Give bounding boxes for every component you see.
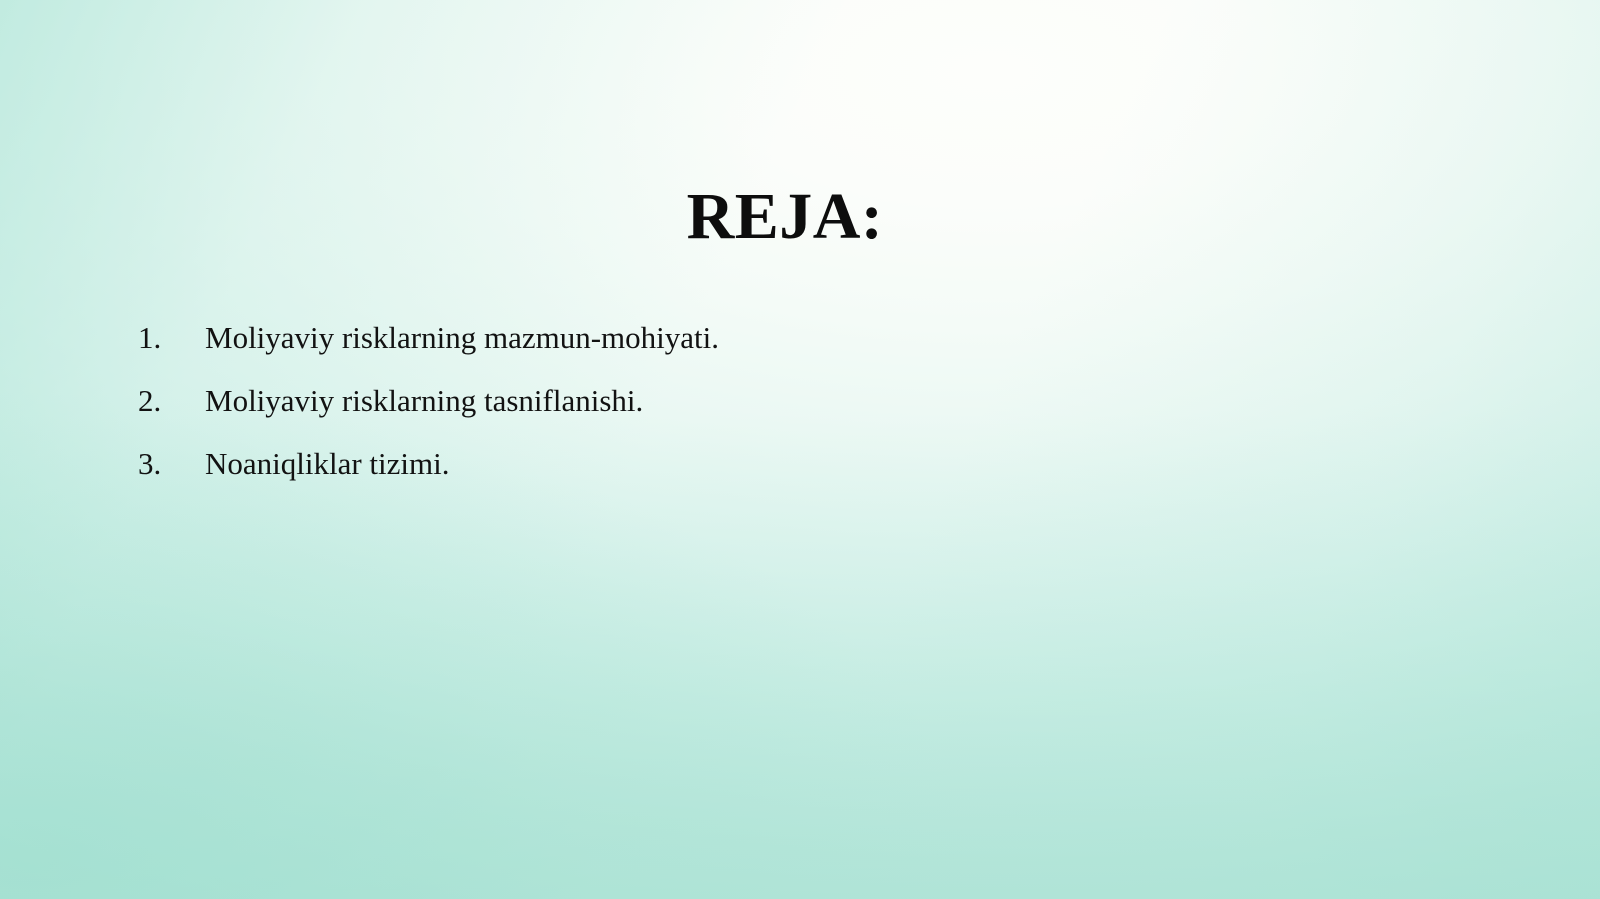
presentation-slide: REJA: 1. Moliyaviy risklarning mazmun-mo…	[0, 0, 1600, 899]
page-title: REJA:	[0, 184, 1570, 250]
list-item-label: Moliyaviy risklarning tasniflanishi.	[205, 381, 643, 421]
list-item-label: Moliyaviy risklarning mazmun-mohiyati.	[205, 318, 719, 358]
list-item: 1. Moliyaviy risklarning mazmun-mohiyati…	[138, 318, 719, 381]
list-item: 2. Moliyaviy risklarning tasniflanishi.	[138, 381, 719, 444]
list-item-number: 1.	[138, 318, 205, 358]
list-item-number: 2.	[138, 381, 205, 421]
agenda-list: 1. Moliyaviy risklarning mazmun-mohiyati…	[138, 318, 719, 507]
list-item-number: 3.	[138, 444, 205, 484]
slide-content: REJA: 1. Moliyaviy risklarning mazmun-mo…	[0, 0, 1600, 899]
list-item: 3. Noaniqliklar tizimi.	[138, 444, 719, 507]
list-item-label: Noaniqliklar tizimi.	[205, 444, 450, 484]
